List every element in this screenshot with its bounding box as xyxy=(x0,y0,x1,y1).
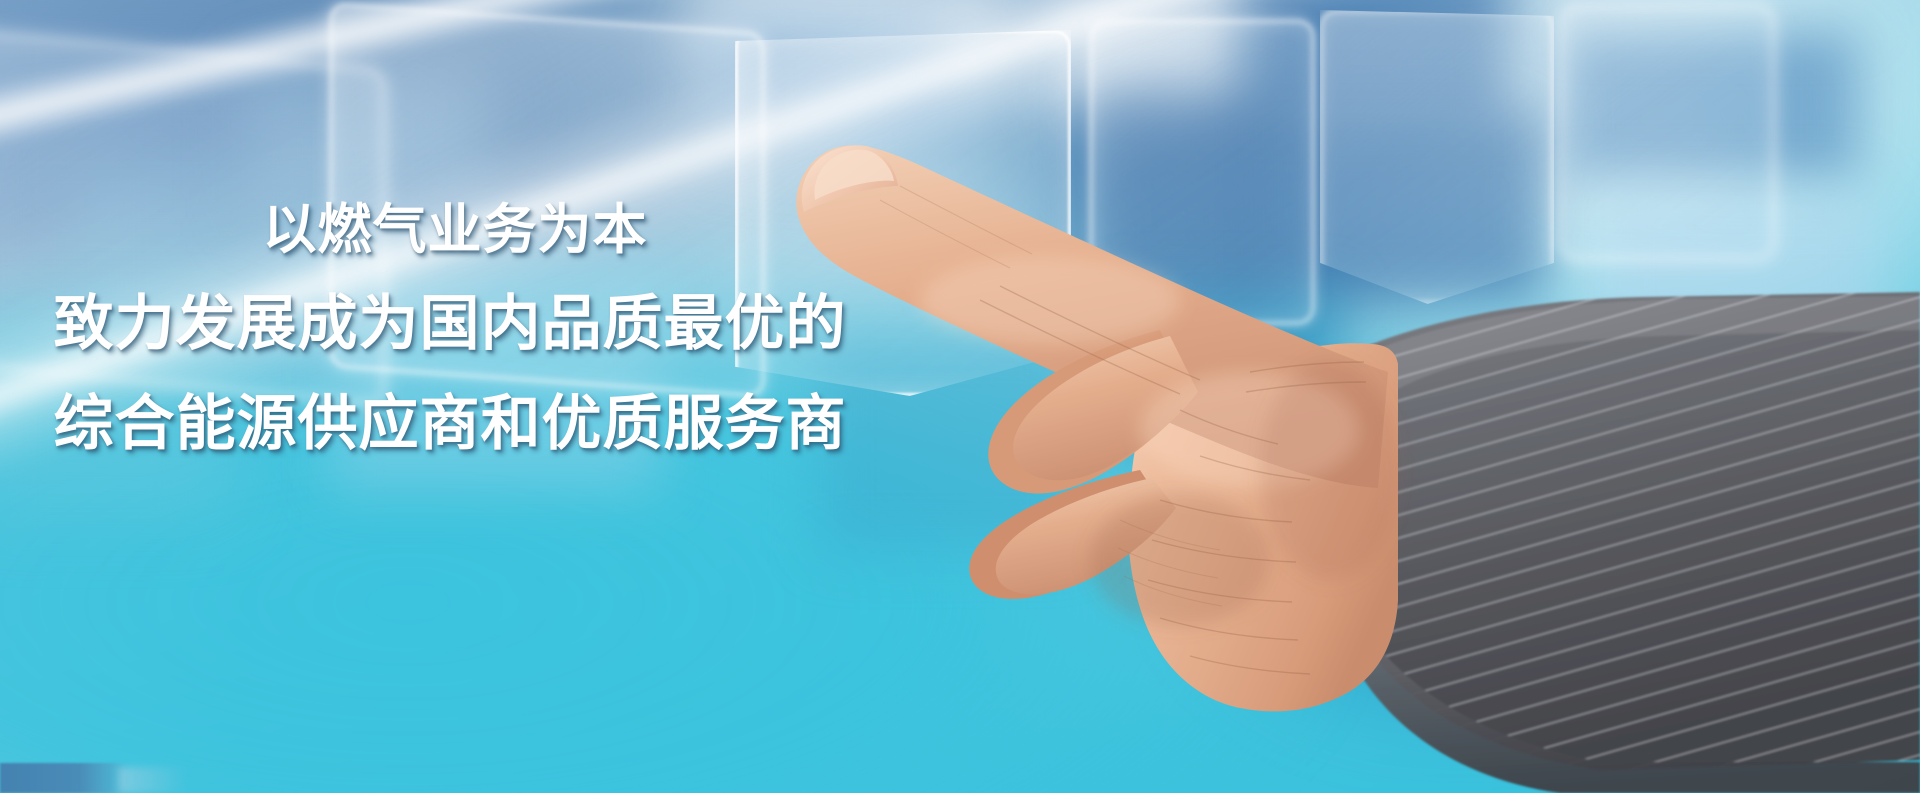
background-screen-17 xyxy=(1390,420,1710,620)
hero-banner: 以燃气业务为本 致力发展成为国内品质最优的 综合能源供应商和优质服务商 xyxy=(0,0,1920,793)
glass-panel-right-2 xyxy=(1320,10,1554,304)
bottom-edge-strip xyxy=(0,763,128,793)
glass-panel-right-3 xyxy=(1560,5,1774,259)
headline-line-3: 综合能源供应商和优质服务商 xyxy=(0,386,900,462)
headline-line-2: 致力发展成为国内品质最优的 xyxy=(0,286,900,362)
headline-line-1: 以燃气业务为本 xyxy=(10,196,900,264)
bottom-edge-strip-fade xyxy=(118,767,188,793)
headline-block: 以燃气业务为本 致力发展成为国内品质最优的 综合能源供应商和优质服务商 xyxy=(0,196,900,461)
